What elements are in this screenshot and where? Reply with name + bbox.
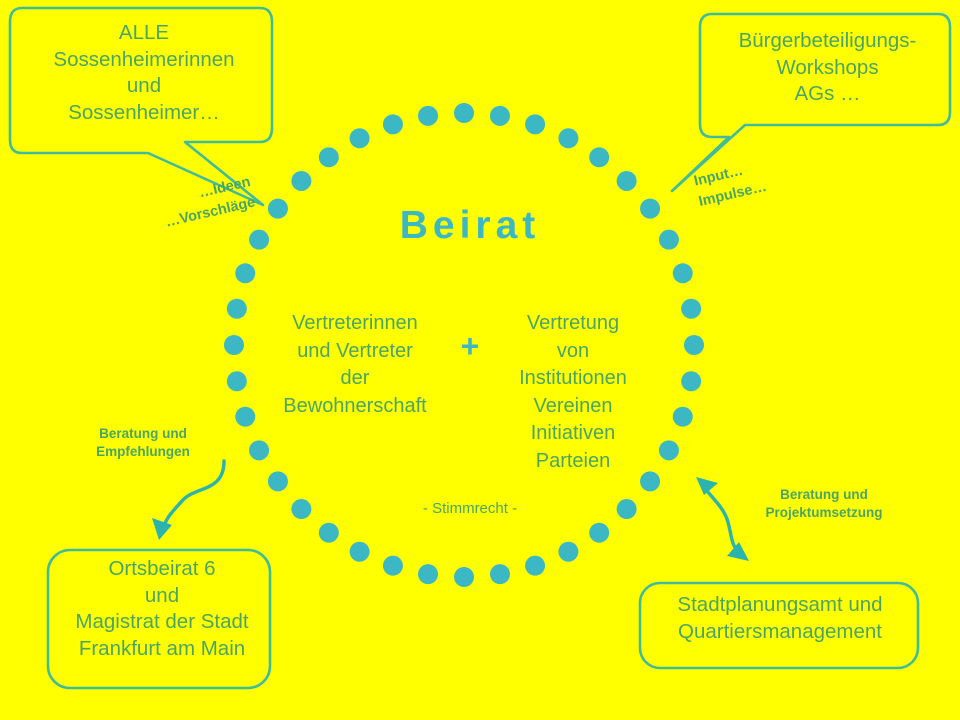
ring-dot: [224, 335, 244, 355]
ring-dot: [558, 542, 578, 562]
ring-dot: [659, 440, 679, 460]
ring-dot: [681, 299, 701, 319]
ring-dot: [490, 564, 510, 584]
ring-dot: [235, 263, 255, 283]
ring-dot: [589, 523, 609, 543]
beirat-title: Beirat: [330, 204, 610, 248]
ring-dot: [589, 147, 609, 167]
ring-dot: [291, 499, 311, 519]
ring-dot: [383, 114, 403, 134]
ring-dot: [350, 128, 370, 148]
ring-dot: [319, 523, 339, 543]
callout-top-right-text: Bürgerbeteiligungs- Workshops AGs …: [710, 28, 945, 108]
ring-dot: [235, 407, 255, 427]
ring-dot: [383, 556, 403, 576]
callout-top-left-text: ALLE Sossenheimerinnen und Sossenheimer…: [18, 20, 270, 127]
ring-dot: [227, 299, 247, 319]
ring-dot: [673, 407, 693, 427]
diagram-canvas: ALLE Sossenheimerinnen und Sossenheimer……: [0, 0, 960, 720]
ring-dot: [525, 114, 545, 134]
stimmrecht-footnote: - Stimmrecht -: [370, 500, 570, 517]
ring-dot: [525, 556, 545, 576]
box-bottom-right-text: Stadtplanungsamt und Quartiersmanagement: [642, 592, 918, 645]
ring-dot: [659, 230, 679, 250]
ring-dot: [418, 564, 438, 584]
callout-top-right-tail-caption: Input… Impulse…: [692, 145, 818, 212]
ring-dot: [673, 263, 693, 283]
ring-dot: [490, 106, 510, 126]
ring-dot: [268, 199, 288, 219]
ring-dot: [617, 171, 637, 191]
ring-dot: [617, 499, 637, 519]
ring-dot: [558, 128, 578, 148]
ring-dot: [268, 471, 288, 491]
plus-icon: +: [449, 330, 491, 362]
ring-dot: [227, 371, 247, 391]
ring-dot: [418, 106, 438, 126]
ring-dot: [454, 567, 474, 587]
ring-dot: [454, 103, 474, 123]
arrow-label-right: Beratung und Projektumsetzung: [742, 486, 906, 522]
arrow-label-left: Beratung und Empfehlungen: [72, 425, 214, 461]
ring-dot: [249, 230, 269, 250]
arrow-left-curve: [152, 461, 224, 540]
center-right-column-text: Vertretung von Institutionen Vereinen In…: [490, 310, 656, 476]
ring-dot: [249, 440, 269, 460]
box-bottom-left-text: Ortsbeirat 6 und Magistrat der Stadt Fra…: [48, 556, 276, 663]
ring-dot: [291, 171, 311, 191]
ring-dot: [350, 542, 370, 562]
callout-top-left-tail-caption: …Ideen …Vorschläge: [121, 172, 257, 241]
ring-dot: [681, 371, 701, 391]
ring-dot: [640, 199, 660, 219]
ring-dot: [319, 147, 339, 167]
ring-dot: [684, 335, 704, 355]
center-left-column-text: Vertreterinnen und Vertreter der Bewohne…: [262, 310, 448, 420]
